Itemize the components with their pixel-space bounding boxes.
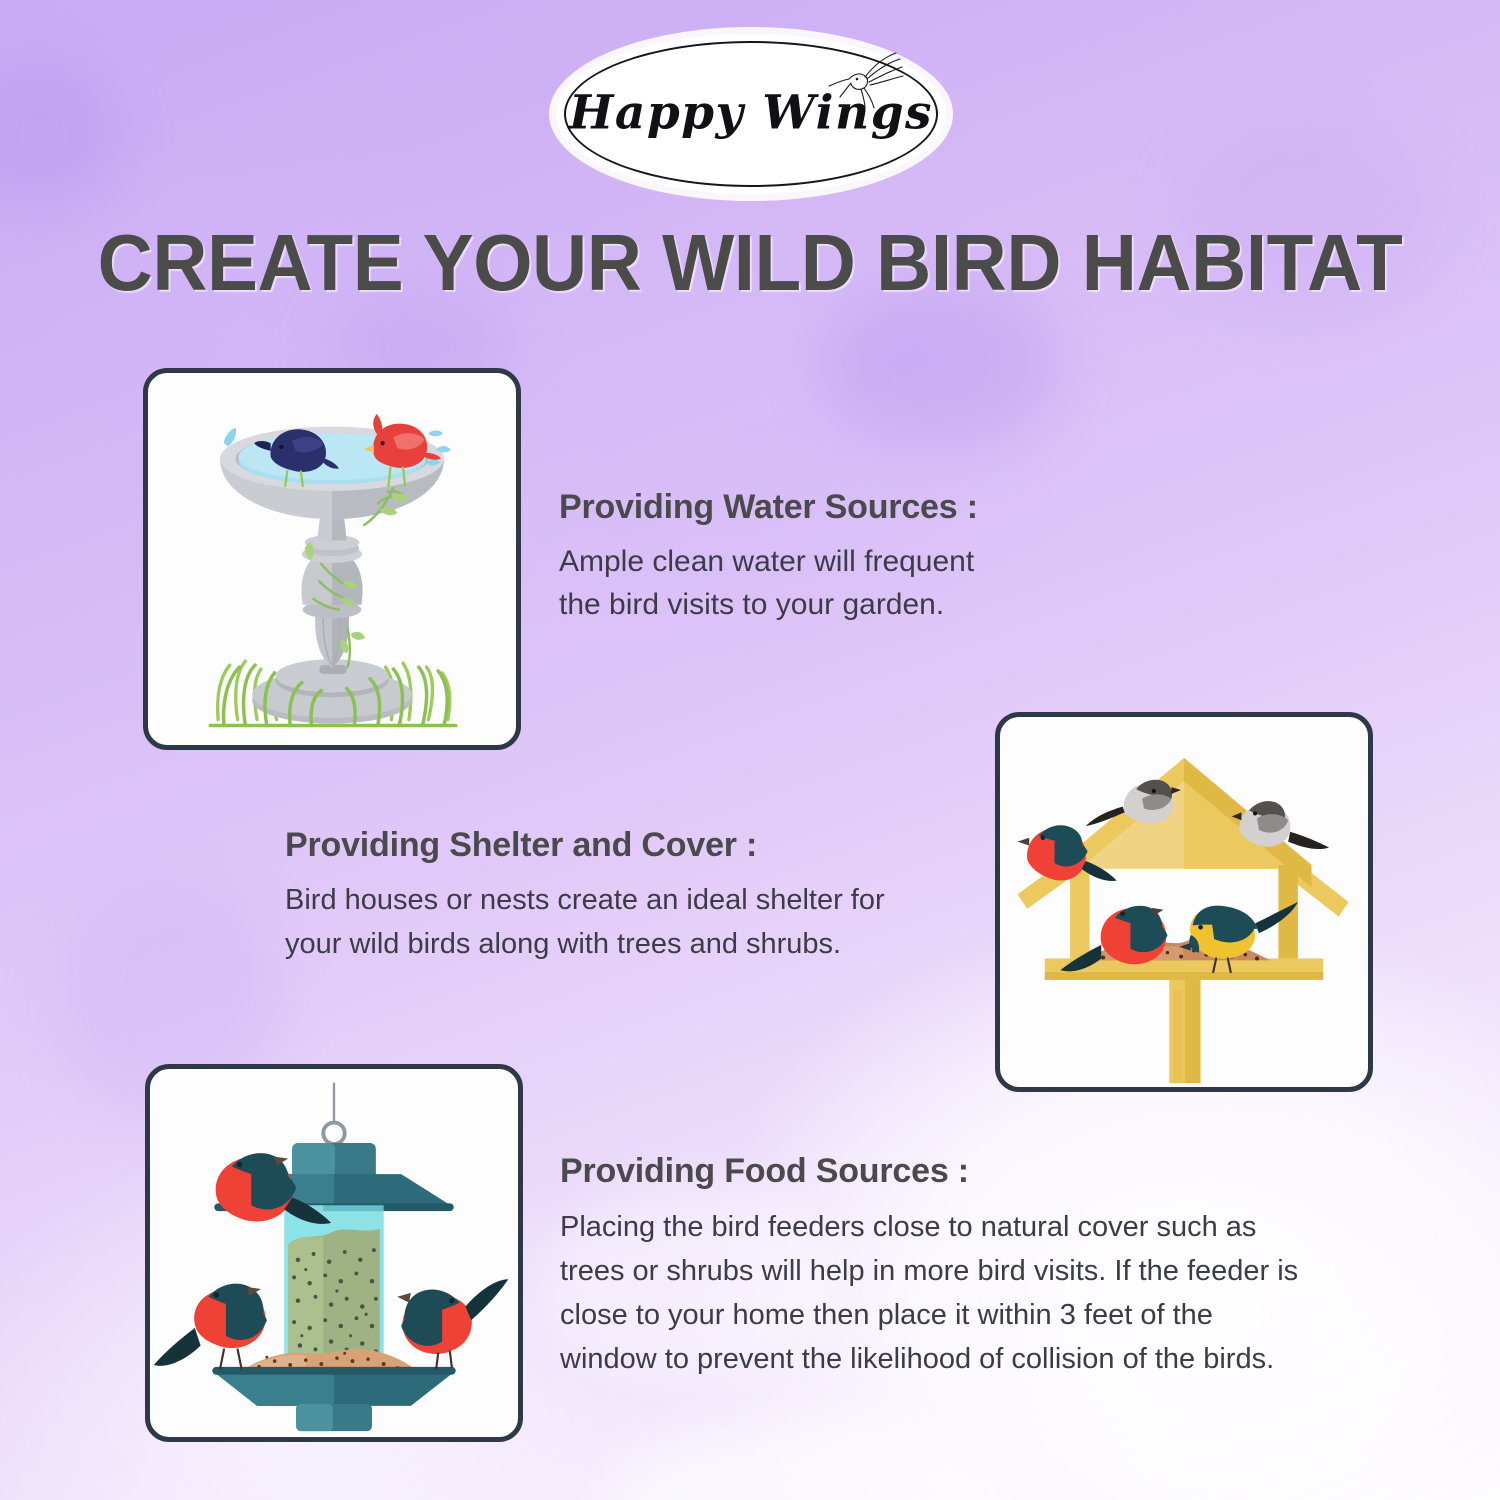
page-title: CREATE YOUR WILD BIRD HABITAT xyxy=(34,223,1467,303)
water-heading: Providing Water Sources : xyxy=(559,488,1079,527)
shelter-text-block: Providing Shelter and Cover : Bird house… xyxy=(285,826,985,966)
hummingbird-icon xyxy=(824,50,908,112)
food-text-block: Providing Food Sources : Placing the bir… xyxy=(560,1152,1390,1381)
shelter-heading: Providing Shelter and Cover : xyxy=(285,826,985,865)
body-line: Bird houses or nests create an ideal she… xyxy=(285,879,985,923)
water-body: Ample clean water will frequent the bird… xyxy=(559,541,1079,626)
body-line: trees or shrubs will help in more bird v… xyxy=(560,1249,1390,1293)
bird-house-illustration xyxy=(995,712,1373,1092)
food-heading: Providing Food Sources : xyxy=(560,1152,1390,1191)
bird-bath-graphic xyxy=(148,373,516,745)
shelter-body: Bird houses or nests create an ideal she… xyxy=(285,879,985,966)
bird-feeder-graphic xyxy=(150,1069,518,1437)
body-line: window to prevent the likelihood of coll… xyxy=(560,1337,1390,1381)
body-line: your wild birds along with trees and shr… xyxy=(285,923,985,967)
body-line: Ample clean water will frequent xyxy=(559,541,1079,584)
brand-logo: Happy Wings xyxy=(556,34,946,194)
infographic-poster: Happy Wings CREATE YOUR WILD BIRD HABITA… xyxy=(0,0,1500,1500)
water-text-block: Providing Water Sources : Ample clean wa… xyxy=(559,488,1079,626)
body-line: Placing the bird feeders close to natura… xyxy=(560,1205,1390,1249)
body-line: the bird visits to your garden. xyxy=(559,584,1079,627)
food-body: Placing the bird feeders close to natura… xyxy=(560,1205,1390,1381)
bird-feeder-illustration xyxy=(145,1064,523,1442)
bird-house-graphic xyxy=(1000,717,1368,1087)
body-line: close to your home then place it within … xyxy=(560,1293,1390,1337)
watercolor-blob xyxy=(0,60,120,210)
watercolor-blob xyxy=(600,1420,1020,1500)
bird-bath-illustration xyxy=(143,368,521,750)
